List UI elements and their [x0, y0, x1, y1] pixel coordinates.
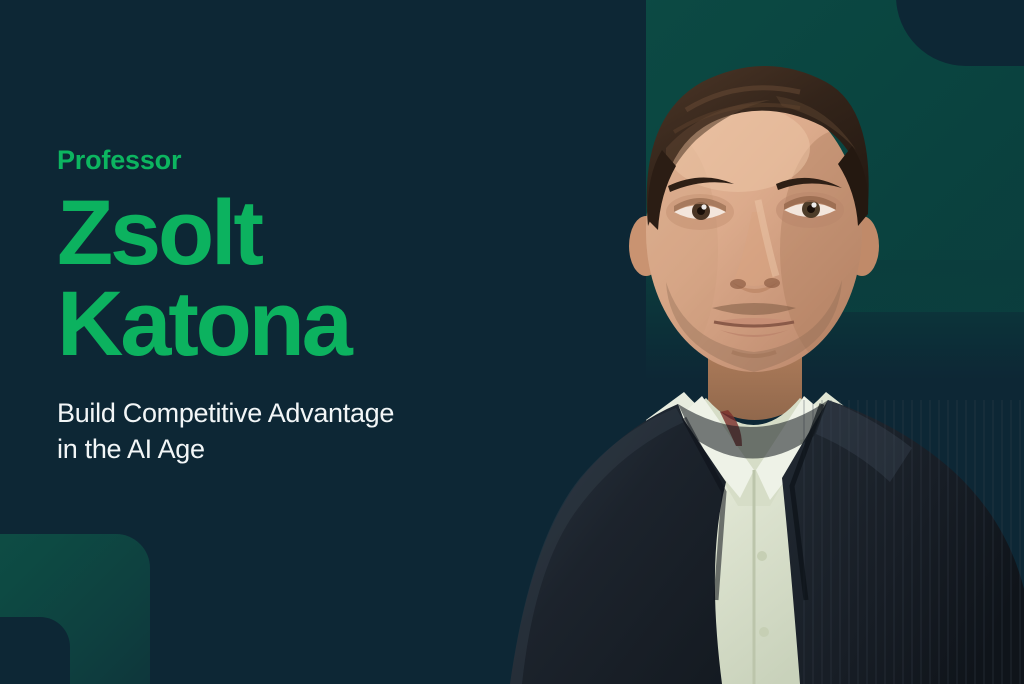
text-block: Professor Zsolt Katona Build Competitive… — [57, 146, 577, 467]
eyebrow-label: Professor — [57, 146, 577, 174]
dark-notch-bottom-left-decor — [0, 617, 70, 684]
talk-subtitle: Build Competitive Advantage in the AI Ag… — [57, 395, 577, 467]
promo-card: Professor Zsolt Katona Build Competitive… — [0, 0, 1024, 684]
speaker-name: Zsolt Katona — [57, 188, 577, 368]
